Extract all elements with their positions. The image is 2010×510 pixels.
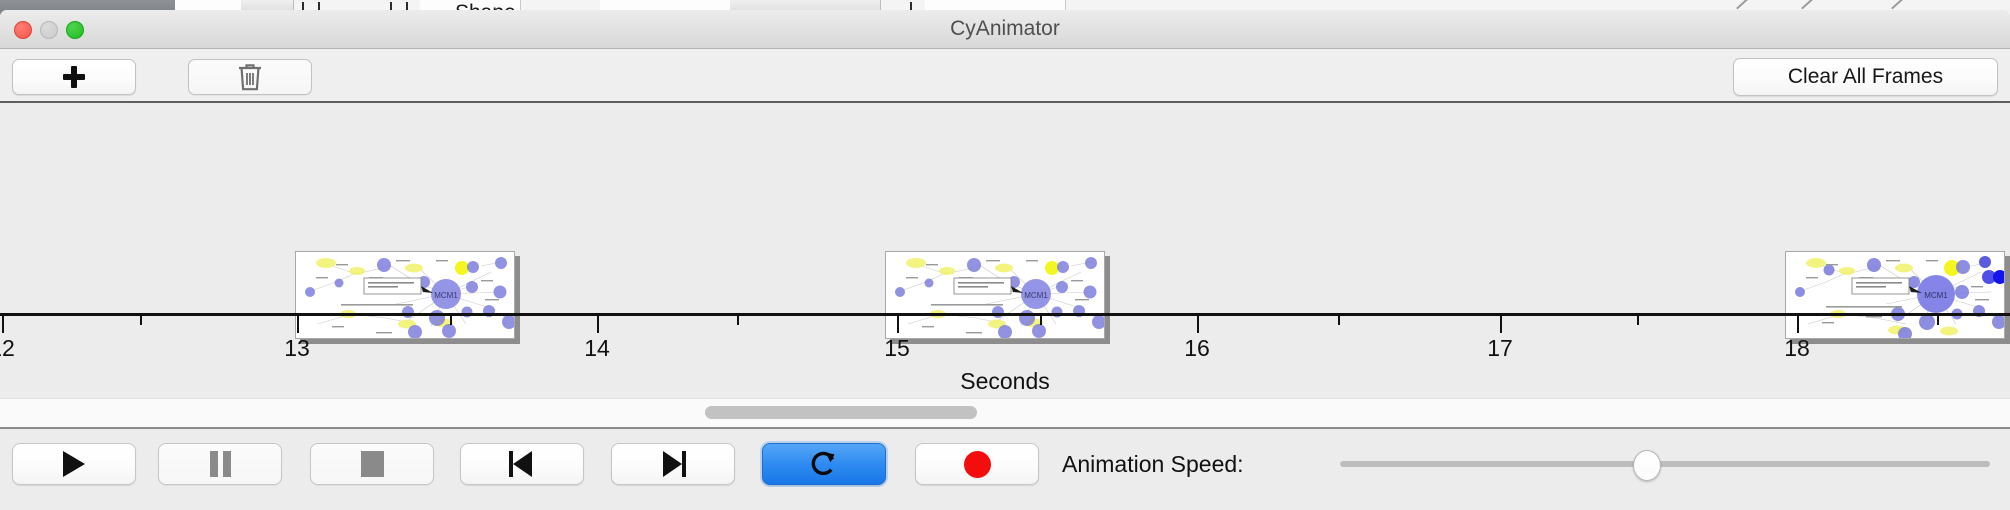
axis-tick-minor — [1637, 316, 1639, 325]
axis-tick-major — [597, 316, 599, 333]
slider-track[interactable] — [1340, 461, 1990, 467]
skip-back-icon — [509, 451, 535, 477]
axis-tick-major — [297, 316, 299, 333]
axis-tick-label: 13 — [284, 335, 310, 362]
loop-icon — [809, 449, 839, 479]
cyanimator-window: CyAnimator Clear All Frames — [0, 10, 2010, 510]
axis-title: Seconds — [0, 368, 2010, 395]
add-frame-button[interactable] — [12, 59, 136, 95]
stop-icon — [361, 451, 384, 477]
skip-to-start-button[interactable] — [460, 443, 584, 485]
axis-tick-label: 12 — [0, 335, 15, 362]
axis-tick-minor — [1338, 316, 1340, 325]
axis-tick-major — [2, 316, 4, 333]
plus-icon — [63, 66, 85, 88]
play-icon — [63, 451, 85, 477]
svg-text:MCM1: MCM1 — [434, 291, 458, 300]
frame-toolbar: Clear All Frames — [0, 49, 2010, 103]
record-icon — [964, 451, 991, 478]
axis-tick-minor — [450, 316, 452, 325]
window-title: CyAnimator — [0, 10, 2010, 48]
cyanimator-window-screenshot: Shape CyAnimator — [0, 0, 2010, 510]
axis-tick-minor — [737, 316, 739, 325]
skip-forward-icon — [660, 451, 686, 477]
animation-speed-label: Animation Speed: — [1062, 443, 1244, 485]
play-button[interactable] — [12, 443, 136, 485]
stop-button[interactable] — [310, 443, 434, 485]
background-slash — [1736, 0, 1748, 9]
timeline-scrollbar[interactable] — [0, 398, 2010, 429]
axis-tick-label: 18 — [1784, 335, 1810, 362]
axis-tick-minor — [1040, 316, 1042, 325]
timeline-axis[interactable]: 12 13 14 15 16 17 18 Secon — [0, 313, 2010, 398]
record-button[interactable] — [915, 443, 1039, 485]
timeline-panel[interactable]: MCM1 — [0, 103, 2010, 398]
window-titlebar: CyAnimator — [0, 10, 2010, 49]
slider-thumb[interactable] — [1633, 450, 1661, 481]
clear-all-frames-label: Clear All Frames — [1788, 65, 1943, 89]
trash-icon — [237, 62, 263, 92]
axis-tick-label: 14 — [584, 335, 610, 362]
axis-tick-major — [1197, 316, 1199, 333]
axis-tick-minor — [1937, 316, 1939, 325]
axis-tick-label: 15 — [884, 335, 910, 362]
axis-baseline — [0, 313, 2010, 316]
pause-button[interactable] — [158, 443, 282, 485]
background-slash — [1891, 0, 1903, 9]
delete-frame-button[interactable] — [188, 59, 312, 95]
scrollbar-thumb[interactable] — [705, 406, 977, 419]
pause-icon — [210, 451, 231, 477]
background-slash — [1801, 0, 1813, 9]
axis-tick-minor — [140, 316, 142, 325]
axis-tick-major — [1797, 316, 1799, 333]
axis-tick-label: 17 — [1487, 335, 1513, 362]
animation-speed-slider[interactable] — [1340, 443, 1990, 485]
axis-tick-major — [897, 316, 899, 333]
svg-text:MCM1: MCM1 — [1924, 291, 1948, 300]
svg-text:MCM1: MCM1 — [1024, 291, 1048, 300]
clear-all-frames-button[interactable]: Clear All Frames — [1733, 58, 1998, 96]
axis-tick-major — [1500, 316, 1502, 333]
loop-button[interactable] — [762, 443, 886, 485]
playback-toolbar: Animation Speed: — [0, 429, 2010, 510]
skip-to-end-button[interactable] — [611, 443, 735, 485]
axis-tick-label: 16 — [1184, 335, 1210, 362]
